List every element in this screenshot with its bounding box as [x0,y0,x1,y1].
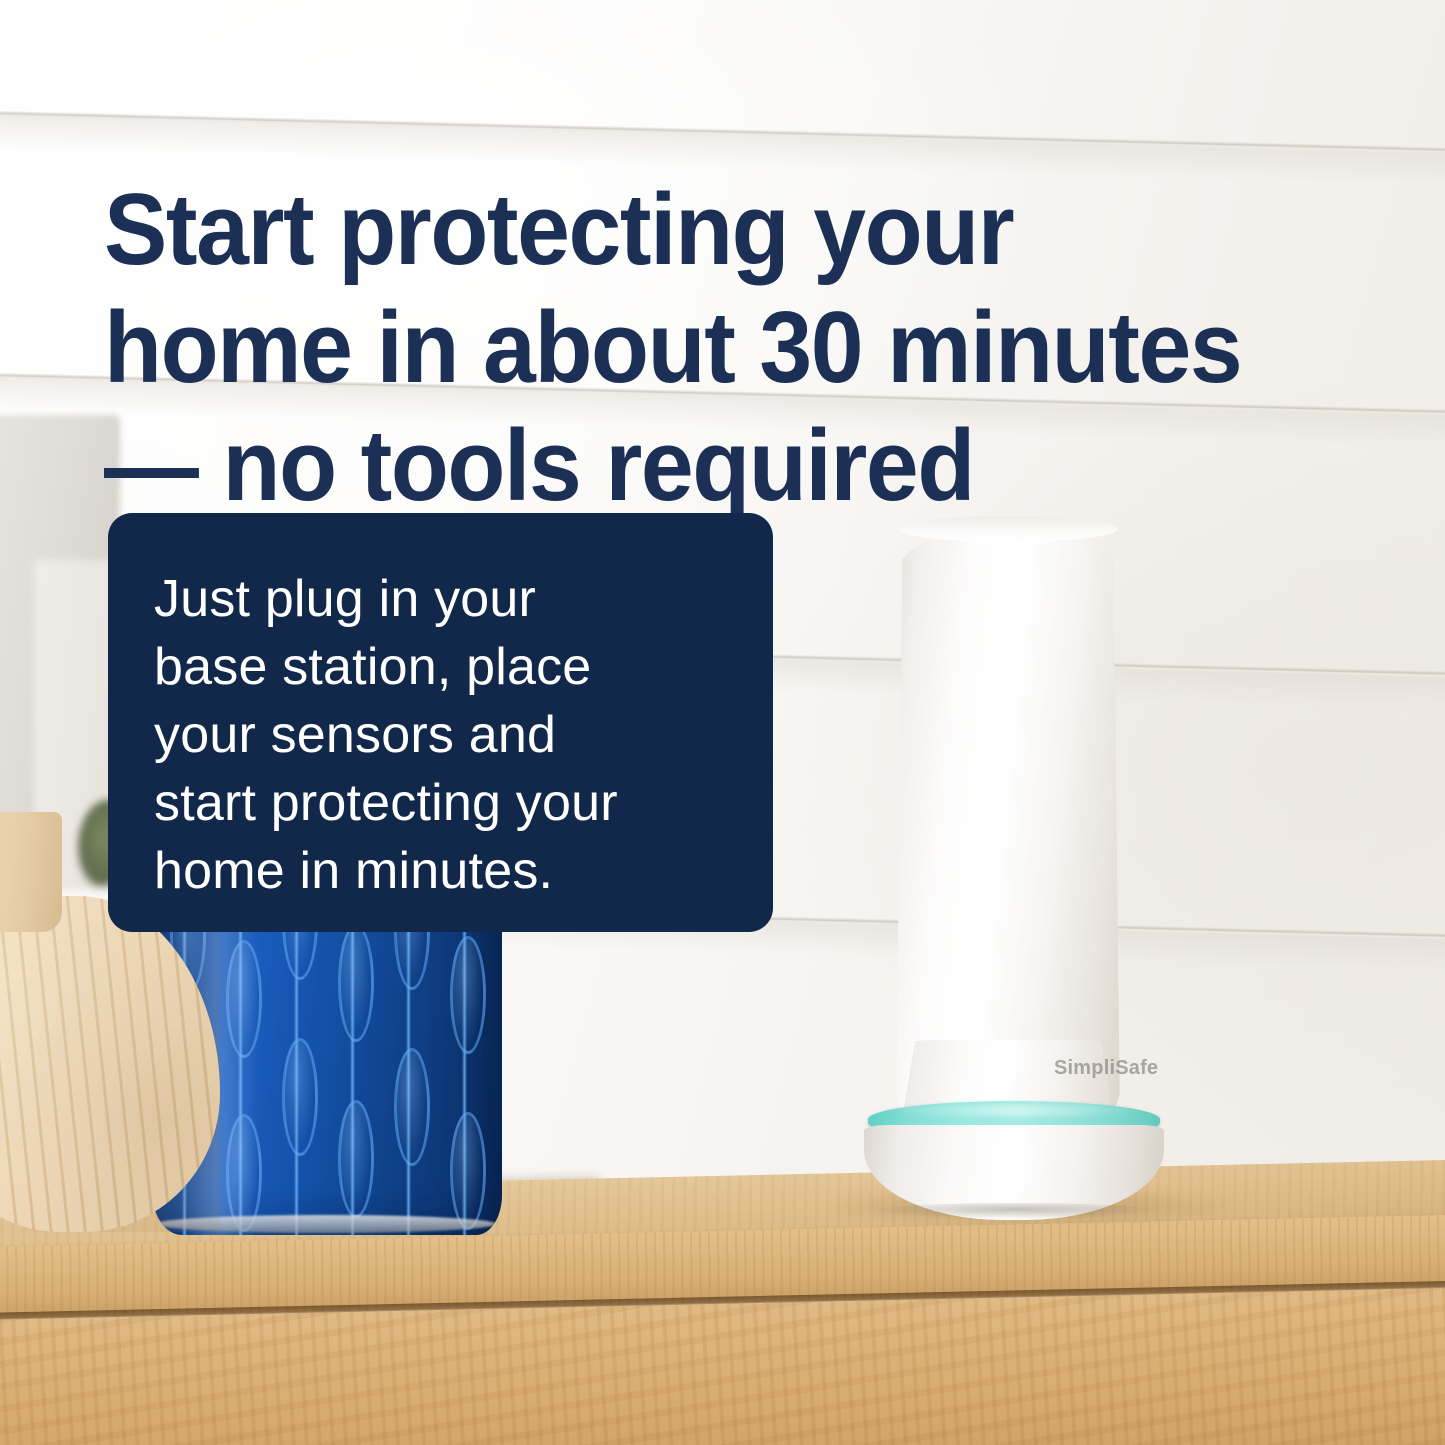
simplisafe-logo: SimpliSafe [1054,1057,1158,1080]
page-title: Start protecting your home in about 30 m… [104,171,1279,525]
info-card: Just plug in your base station, place yo… [108,513,773,932]
promo-image: SimpliSafe Start protecting your home in… [0,0,1445,1445]
device-body [896,524,1120,1124]
device-contact-shadow [868,1203,1160,1219]
info-card-text: Just plug in your base station, place yo… [154,565,727,905]
device-status-ring-highlight [884,1105,1144,1116]
simplisafe-base-station: SimpliSafe [858,520,1188,1220]
